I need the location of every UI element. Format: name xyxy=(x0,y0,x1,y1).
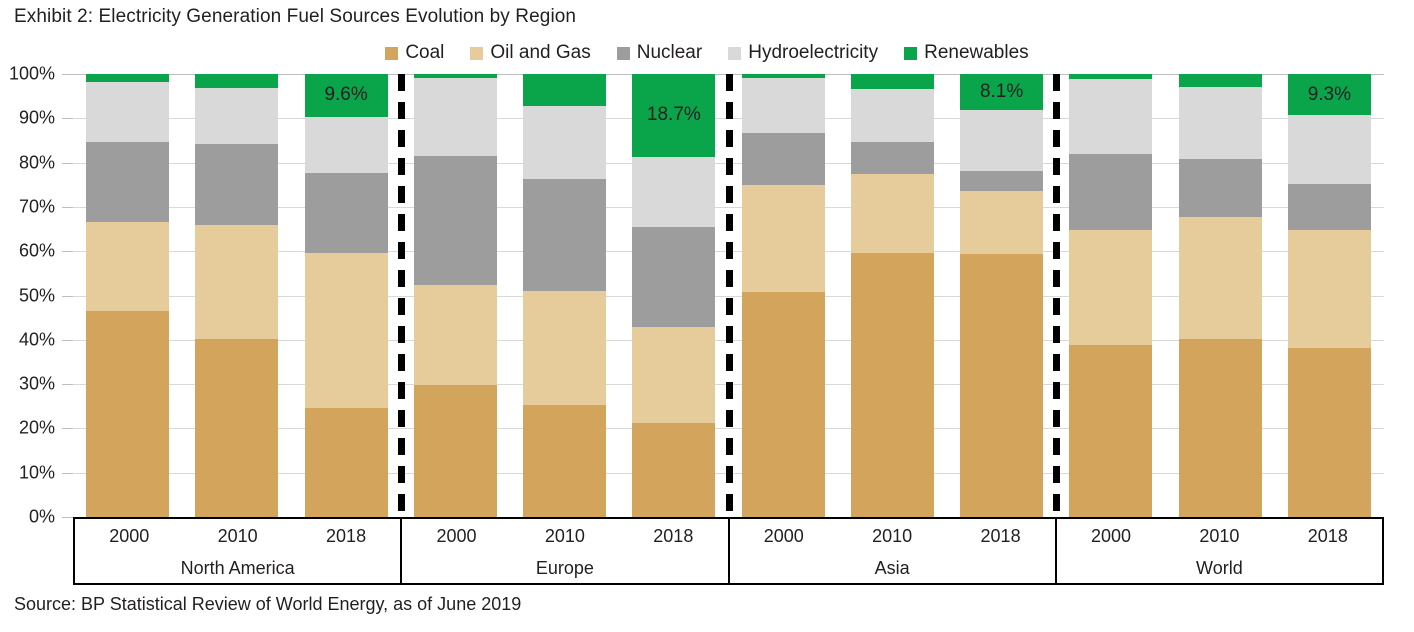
y-axis-tick-mark xyxy=(62,118,73,119)
bar-slot: 8.1% xyxy=(947,74,1056,517)
bar-segment[interactable] xyxy=(1069,154,1152,230)
bar-segment[interactable] xyxy=(1179,74,1262,87)
legend-item-label: Oil and Gas xyxy=(490,42,590,64)
region-divider xyxy=(1053,74,1060,517)
bar-segment[interactable] xyxy=(632,327,715,422)
region-group: 18.7% xyxy=(401,74,729,517)
bar-segment[interactable] xyxy=(1069,345,1152,517)
legend-swatch-icon xyxy=(617,47,630,60)
bar-segment[interactable] xyxy=(523,405,606,517)
y-axis-tick-label: 80% xyxy=(19,152,55,173)
bar-segment-value-label: 9.3% xyxy=(1308,84,1351,106)
bar-slot xyxy=(729,74,838,517)
bar-segment[interactable] xyxy=(414,285,497,385)
bar-segment[interactable] xyxy=(1288,348,1371,517)
legend-swatch-icon xyxy=(728,47,741,60)
bar-segment[interactable] xyxy=(1288,115,1371,184)
y-axis-tick-label: 100% xyxy=(9,64,55,85)
y-axis-tick-mark xyxy=(62,340,73,341)
bar-segment[interactable] xyxy=(195,144,278,225)
bar-segment[interactable] xyxy=(86,142,169,222)
bar-segment[interactable] xyxy=(632,227,715,328)
bar-segment[interactable]: 9.6% xyxy=(305,74,388,117)
region-group: 9.3% xyxy=(1056,74,1384,517)
y-axis-tick-label: 40% xyxy=(19,329,55,350)
bar-segment[interactable] xyxy=(523,179,606,291)
region-divider xyxy=(726,74,733,517)
bar-segment[interactable] xyxy=(632,423,715,517)
y-axis-tick-mark xyxy=(62,517,73,518)
bar-segment[interactable] xyxy=(960,254,1043,517)
region-group: 8.1% xyxy=(729,74,1057,517)
x-axis-year-label: 2000 xyxy=(402,519,510,553)
bar-segment[interactable] xyxy=(1179,339,1262,517)
y-axis-tick-label: 90% xyxy=(19,108,55,129)
bar-segment[interactable] xyxy=(86,74,169,82)
bar-segment[interactable] xyxy=(960,191,1043,255)
x-axis-year-label: 2000 xyxy=(75,519,183,553)
y-axis-tick-mark xyxy=(62,296,73,297)
y-axis-tick-label: 70% xyxy=(19,196,55,217)
bar-segment[interactable] xyxy=(742,133,825,185)
bar-segment[interactable] xyxy=(86,311,169,517)
bar-segment[interactable] xyxy=(632,157,715,227)
bar-segment[interactable]: 8.1% xyxy=(960,74,1043,110)
bar-segment[interactable] xyxy=(1179,87,1262,159)
stacked-bar[interactable] xyxy=(195,74,278,517)
bar-segment[interactable] xyxy=(851,174,934,252)
bar-segment[interactable] xyxy=(86,82,169,142)
y-axis-tick-mark xyxy=(62,428,73,429)
bar-segment-value-label: 8.1% xyxy=(980,81,1023,103)
x-axis-year-row: 200020102018 xyxy=(730,519,1055,553)
x-axis-region-label: Europe xyxy=(402,553,727,583)
x-axis-region-label: World xyxy=(1057,553,1382,583)
stacked-bar[interactable]: 9.3% xyxy=(1288,74,1371,517)
bar-slot xyxy=(73,74,182,517)
legend-item[interactable]: Renewables xyxy=(904,42,1029,64)
y-axis-tick-label: 10% xyxy=(19,462,55,483)
y-axis-tick-mark xyxy=(62,251,73,252)
legend-item[interactable]: Hydroelectricity xyxy=(728,42,878,64)
x-axis-region: 200020102018Asia xyxy=(730,519,1057,583)
stacked-bar[interactable] xyxy=(414,74,497,517)
bar-slot: 18.7% xyxy=(619,74,728,517)
bar-segment[interactable] xyxy=(414,385,497,517)
bar-segment[interactable] xyxy=(851,253,934,517)
bar-segment[interactable]: 9.3% xyxy=(1288,74,1371,115)
bar-segment-value-label: 9.6% xyxy=(324,84,367,106)
bar-segment[interactable] xyxy=(1179,217,1262,339)
bar-segment[interactable] xyxy=(195,88,278,145)
bar-segment[interactable] xyxy=(1069,79,1152,154)
legend-item[interactable]: Nuclear xyxy=(617,42,702,64)
bar-segment[interactable] xyxy=(414,78,497,157)
y-axis-tick-label: 30% xyxy=(19,374,55,395)
bar-segment[interactable] xyxy=(195,74,278,88)
bar-slot xyxy=(1056,74,1165,517)
x-axis-year-label: 2018 xyxy=(292,519,400,553)
bar-segment[interactable] xyxy=(195,225,278,339)
region-group: 9.6% xyxy=(73,74,401,517)
stacked-bar[interactable] xyxy=(1069,74,1152,517)
x-axis-region: 200020102018World xyxy=(1057,519,1382,583)
bar-segment[interactable] xyxy=(742,292,825,517)
bar-segment[interactable] xyxy=(305,253,388,408)
bar-segment[interactable] xyxy=(742,185,825,292)
bar-segment[interactable] xyxy=(1069,74,1152,79)
bar-segment[interactable] xyxy=(742,78,825,133)
stacked-bar[interactable] xyxy=(1179,74,1262,517)
stacked-bar[interactable]: 9.6% xyxy=(305,74,388,517)
x-axis-year-label: 2000 xyxy=(1057,519,1165,553)
y-axis-tick-label: 20% xyxy=(19,418,55,439)
y-axis-tick-label: 60% xyxy=(19,241,55,262)
x-axis-year-label: 2018 xyxy=(946,519,1054,553)
bar-segment[interactable] xyxy=(742,74,825,78)
bar-segment[interactable] xyxy=(414,74,497,78)
x-axis-year-label: 2018 xyxy=(619,519,727,553)
bar-segment[interactable] xyxy=(305,408,388,517)
bar-segment[interactable] xyxy=(86,222,169,311)
bar-slot xyxy=(401,74,510,517)
stacked-bar[interactable]: 8.1% xyxy=(960,74,1043,517)
bar-segment[interactable] xyxy=(305,117,388,174)
y-axis-tick-mark xyxy=(62,384,73,385)
y-axis-tick-label: 0% xyxy=(29,507,55,528)
stacked-bar[interactable] xyxy=(742,74,825,517)
bar-segment[interactable] xyxy=(414,156,497,285)
bar-segment[interactable] xyxy=(1288,230,1371,348)
plot-area: 9.6%18.7%8.1%9.3% xyxy=(73,74,1384,517)
legend-item-label: Nuclear xyxy=(637,42,702,64)
x-axis: 200020102018North America200020102018Eur… xyxy=(73,517,1384,585)
x-axis-year-label: 2010 xyxy=(511,519,619,553)
bar-segment-value-label: 18.7% xyxy=(647,104,701,126)
bar-segment[interactable] xyxy=(1288,184,1371,229)
y-axis-tick-mark xyxy=(62,163,73,164)
y-axis-tick-mark xyxy=(62,74,73,75)
x-axis-year-label: 2010 xyxy=(183,519,291,553)
bar-segment[interactable] xyxy=(960,171,1043,190)
bar-segment[interactable] xyxy=(195,339,278,517)
legend-item[interactable]: Coal xyxy=(385,42,444,64)
bar-segment[interactable] xyxy=(851,89,934,142)
bar-segment[interactable] xyxy=(851,74,934,89)
stacked-bar[interactable]: 18.7% xyxy=(632,74,715,517)
legend-swatch-icon xyxy=(470,47,483,60)
bar-segment[interactable] xyxy=(523,291,606,405)
bar-segment[interactable] xyxy=(1069,230,1152,345)
bar-slot xyxy=(1166,74,1275,517)
legend-item-label: Hydroelectricity xyxy=(748,42,878,64)
y-axis-tick-mark xyxy=(62,473,73,474)
stacked-bar[interactable] xyxy=(86,74,169,517)
x-axis-year-row: 200020102018 xyxy=(1057,519,1382,553)
y-axis-tick-label: 50% xyxy=(19,285,55,306)
x-axis-region: 200020102018Europe xyxy=(402,519,729,583)
x-axis-year-label: 2000 xyxy=(730,519,838,553)
stacked-bar[interactable] xyxy=(523,74,606,517)
x-axis-region-label: Asia xyxy=(730,553,1055,583)
x-axis-region-label: North America xyxy=(75,553,400,583)
legend-item[interactable]: Oil and Gas xyxy=(470,42,590,64)
y-axis: 0%10%20%30%40%50%60%70%80%90%100% xyxy=(0,74,73,517)
bar-segment[interactable] xyxy=(851,142,934,174)
page-title: Exhibit 2: Electricity Generation Fuel S… xyxy=(14,6,576,28)
x-axis-year-label: 2018 xyxy=(1274,519,1382,553)
bar-segment[interactable] xyxy=(305,173,388,253)
x-axis-year-label: 2010 xyxy=(838,519,946,553)
x-axis-year-row: 200020102018 xyxy=(402,519,727,553)
legend-item-label: Renewables xyxy=(924,42,1029,64)
bar-slot xyxy=(838,74,947,517)
legend-item-label: Coal xyxy=(405,42,444,64)
chart-legend: CoalOil and GasNuclearHydroelectricityRe… xyxy=(0,42,1414,64)
legend-swatch-icon xyxy=(385,47,398,60)
bar-segment[interactable] xyxy=(523,106,606,179)
bar-slot xyxy=(182,74,291,517)
bar-segment[interactable]: 18.7% xyxy=(632,74,715,157)
bar-slot xyxy=(510,74,619,517)
bar-segment[interactable] xyxy=(523,74,606,106)
source-note: Source: BP Statistical Review of World E… xyxy=(14,594,521,615)
bar-slot: 9.3% xyxy=(1275,74,1384,517)
stacked-bar[interactable] xyxy=(851,74,934,517)
x-axis-year-label: 2010 xyxy=(1165,519,1273,553)
legend-swatch-icon xyxy=(904,47,917,60)
bar-slot: 9.6% xyxy=(292,74,401,517)
bar-segment[interactable] xyxy=(960,110,1043,171)
x-axis-year-row: 200020102018 xyxy=(75,519,400,553)
y-axis-tick-mark xyxy=(62,207,73,208)
x-axis-region: 200020102018North America xyxy=(75,519,402,583)
bar-segment[interactable] xyxy=(1179,159,1262,217)
region-divider xyxy=(398,74,405,517)
